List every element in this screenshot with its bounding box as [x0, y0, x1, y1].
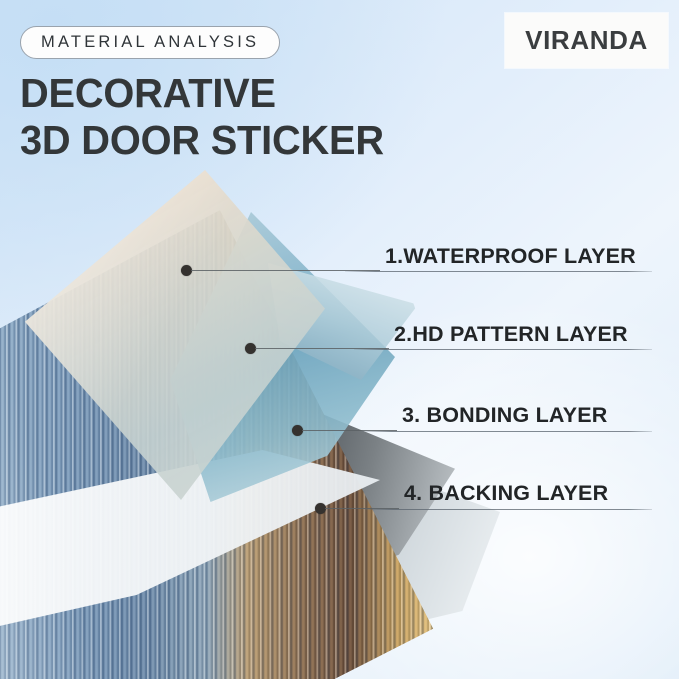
page-title-line-1: DECORATIVE — [20, 70, 384, 117]
callout-label-backing: 4. BACKING LAYER — [404, 481, 608, 506]
callout-rule-bonding — [362, 431, 652, 432]
brand-logo-box: VIRANDA — [505, 13, 668, 68]
callout-rule-backing — [364, 509, 652, 510]
eyebrow-text: MATERIAL ANALYSIS — [41, 33, 259, 52]
callout-rule-waterproof — [345, 271, 652, 272]
poster-canvas: MATERIAL ANALYSIS DECORATIVE 3D DOOR STI… — [0, 0, 679, 679]
callout-label-waterproof: 1.WATERPROOF LAYER — [385, 244, 636, 269]
eyebrow-badge: MATERIAL ANALYSIS — [20, 26, 280, 59]
brand-name: VIRANDA — [525, 25, 648, 56]
page-title: DECORATIVE 3D DOOR STICKER — [20, 70, 384, 164]
callout-label-bonding: 3. BONDING LAYER — [402, 403, 608, 428]
callout-label-hd-pattern: 2.HD PATTERN LAYER — [394, 322, 628, 347]
page-title-line-2: 3D DOOR STICKER — [20, 117, 384, 164]
callout-rule-hd-pattern — [354, 349, 652, 350]
